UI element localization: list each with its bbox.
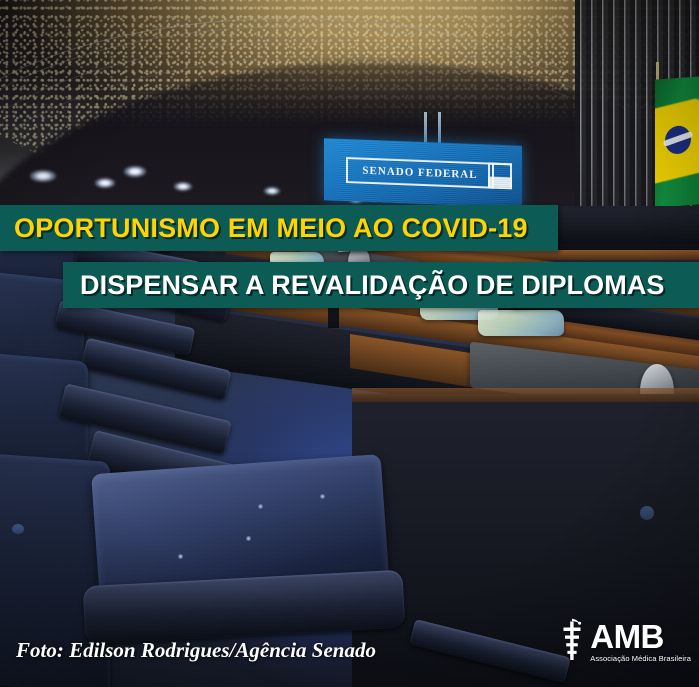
brazil-flag xyxy=(655,76,699,207)
amb-tagline: Associação Médica Brasileira xyxy=(590,655,691,663)
chair-hardware-dot xyxy=(12,524,24,534)
caduceus-icon xyxy=(557,618,587,664)
amb-logo: AMB Associação Médica Brasileira xyxy=(557,618,691,664)
headline-text-primary: OPORTUNISMO EM MEIO AO COVID-19 xyxy=(14,213,528,244)
console-knob xyxy=(640,506,654,520)
senate-emblem-box xyxy=(488,162,512,189)
ceiling-spotlight xyxy=(30,170,56,182)
console-top-edge xyxy=(352,388,699,402)
headline-banner-primary: OPORTUNISMO EM MEIO AO COVID-19 xyxy=(0,205,558,251)
senate-chamber-photo: SENADO FEDERAL xyxy=(0,0,699,687)
headline-text-secondary: DISPENSAR A REVALIDAÇÃO DE DIPLOMAS xyxy=(80,270,665,301)
ceiling-spotlight xyxy=(174,182,192,191)
cushion-tuft xyxy=(320,494,325,499)
ceiling-spotlight xyxy=(264,187,280,195)
desk-back-panel xyxy=(545,210,699,244)
ceiling-spotlight xyxy=(95,178,115,188)
news-graphic-canvas: SENADO FEDERAL xyxy=(0,0,699,687)
cushion-tuft xyxy=(246,536,251,541)
senado-federal-screen: SENADO FEDERAL xyxy=(324,138,522,208)
amb-logo-text: AMB Associação Médica Brasileira xyxy=(590,620,691,663)
senado-federal-label: SENADO FEDERAL xyxy=(362,165,477,181)
photo-credit: Foto: Edilson Rodrigues/Agência Senado xyxy=(16,638,376,663)
amb-acronym: AMB xyxy=(590,620,664,653)
ceiling-spotlight xyxy=(124,166,146,177)
cushion-tuft xyxy=(258,504,263,509)
desk-papers xyxy=(478,310,564,336)
cushion-tuft xyxy=(178,554,183,559)
senado-federal-plate: SENADO FEDERAL xyxy=(346,157,494,189)
headline-banner-secondary: DISPENSAR A REVALIDAÇÃO DE DIPLOMAS xyxy=(63,262,699,308)
